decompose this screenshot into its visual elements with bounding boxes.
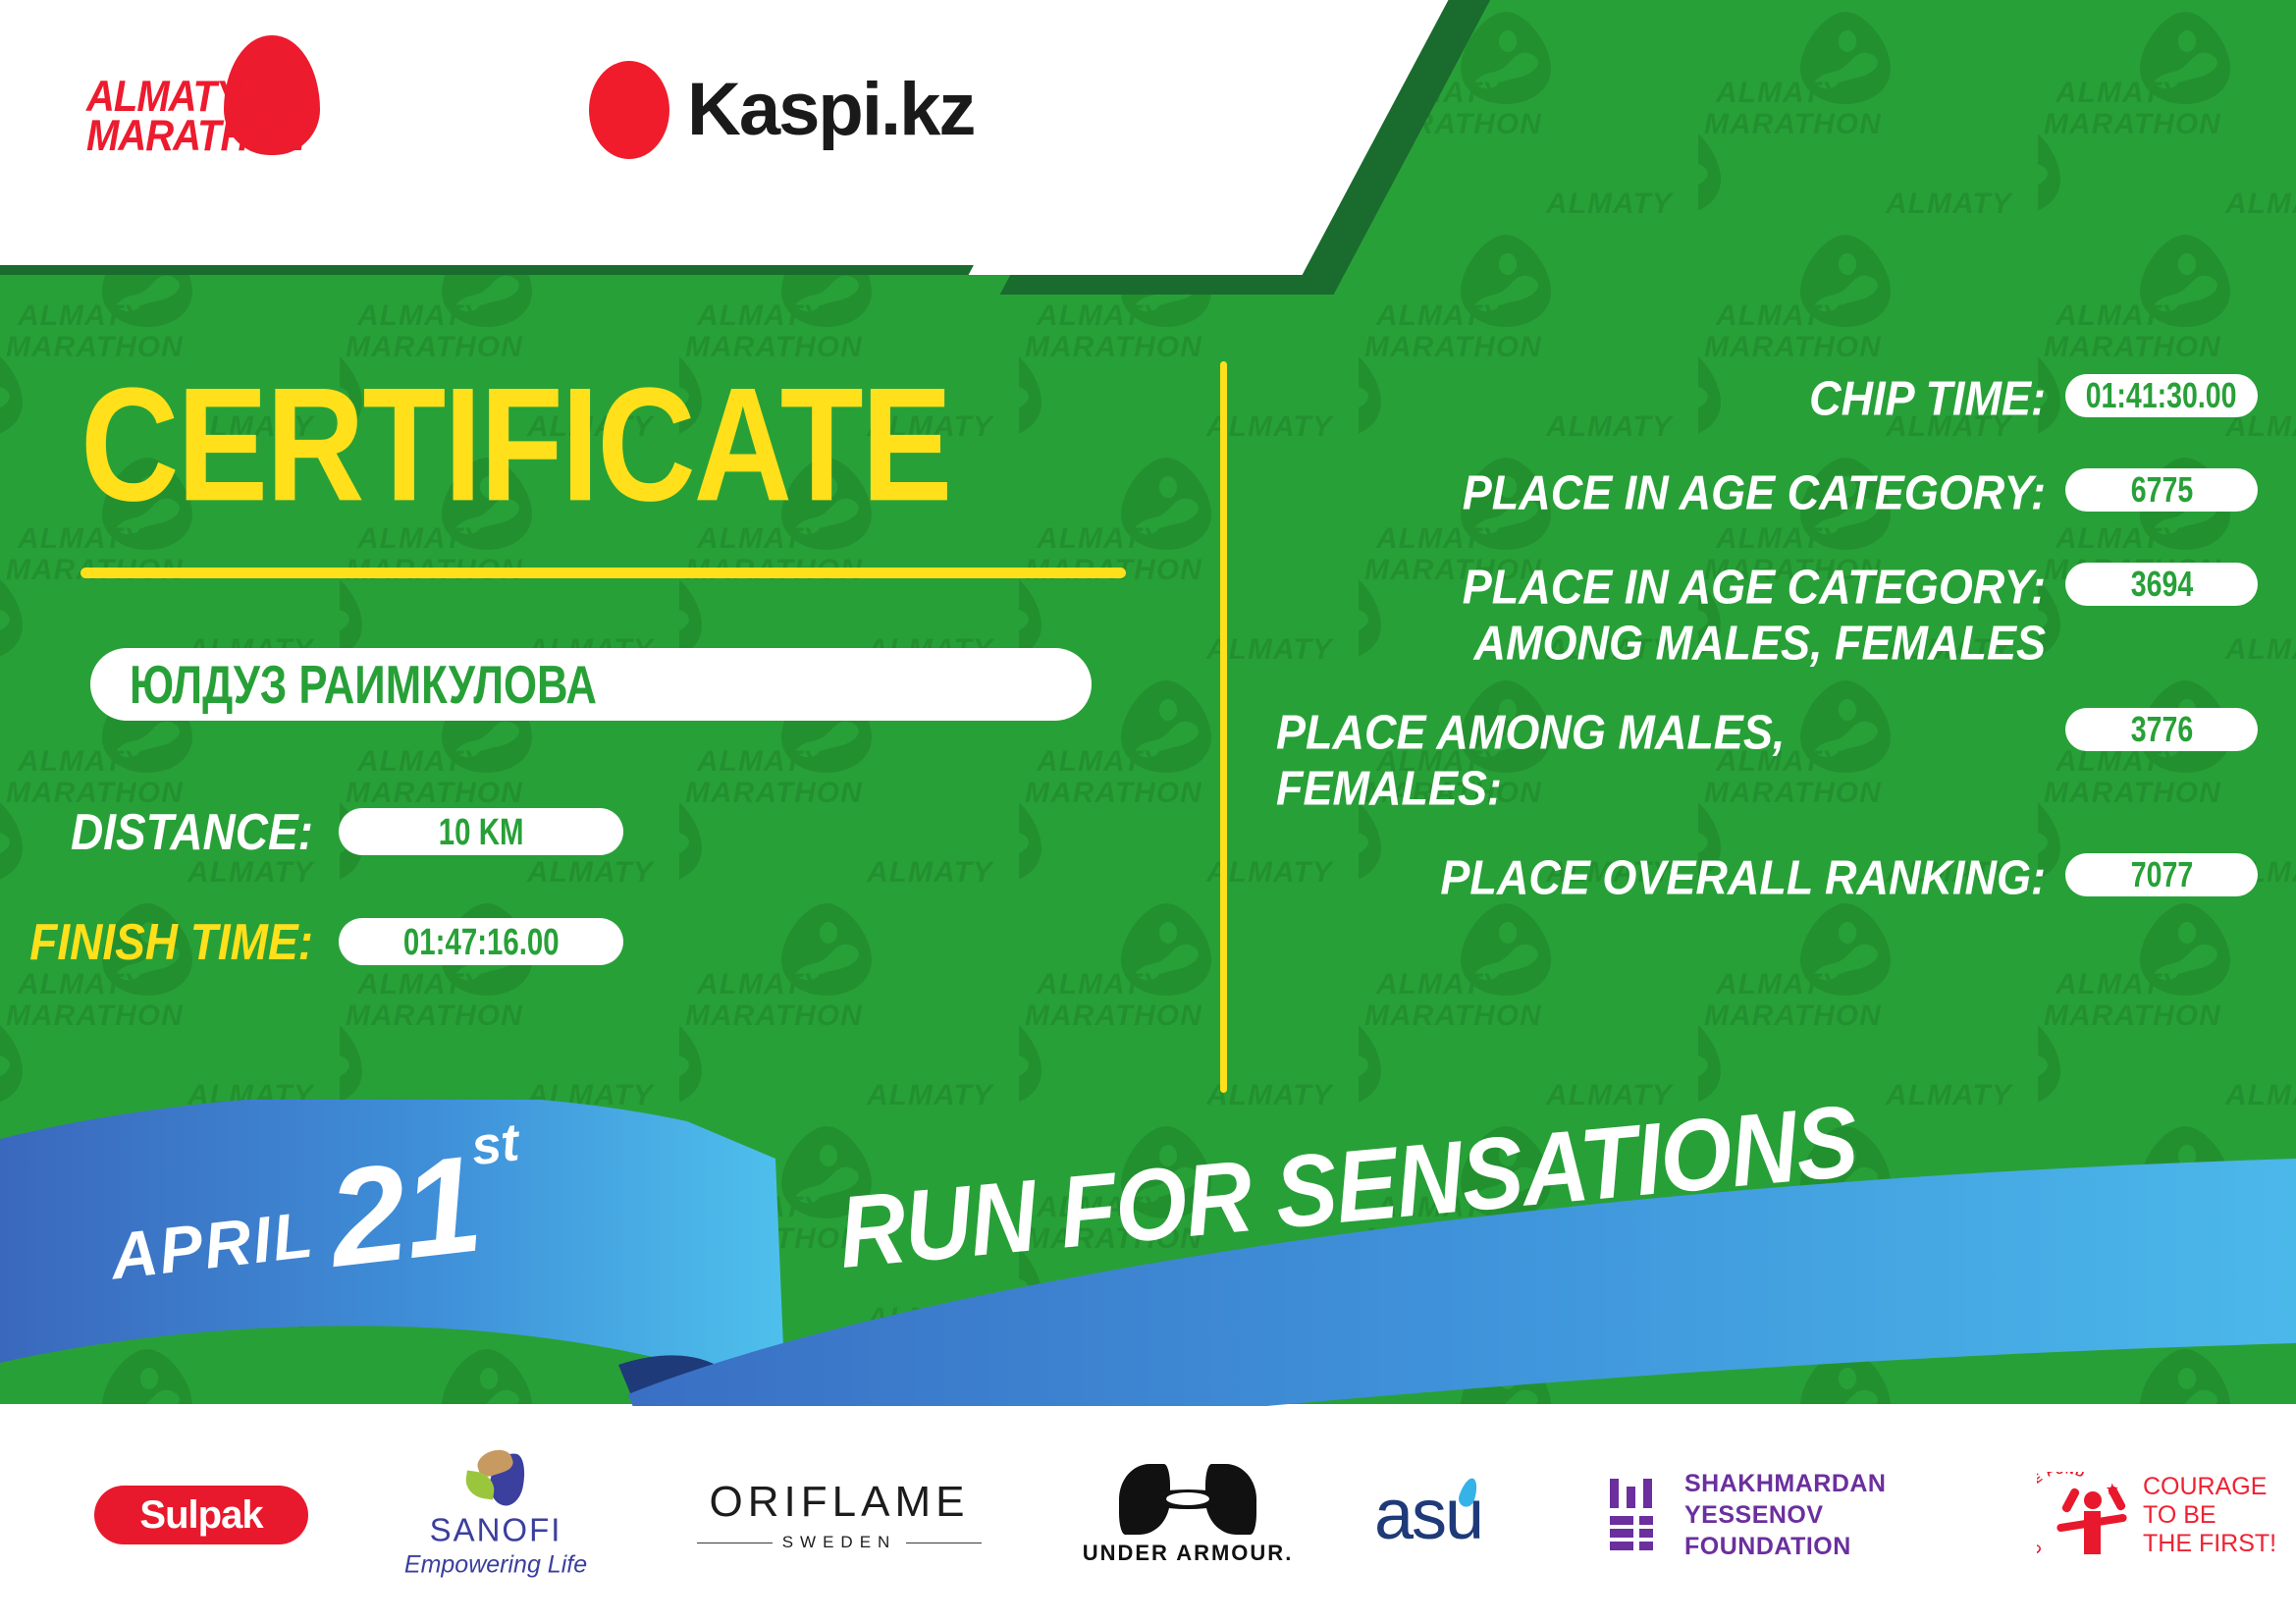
sponsor-name-sanofi: SANOFI bbox=[398, 1512, 594, 1549]
stat-value-pill-place-overall: 7077 bbox=[2065, 853, 2258, 896]
left-stats-list: DISTANCE: 10 KM FINISH TIME: 01:47:16.00 bbox=[0, 795, 1080, 1015]
stat-value-place-among-gender: 3776 bbox=[2130, 709, 2192, 750]
stat-row-chip-time: CHIP TIME: 01:41:30.00 bbox=[1276, 368, 2258, 421]
stat-label-distance: DISTANCE: bbox=[0, 802, 339, 861]
participant-name: ЮЛДУЗ РАИМКУЛОВА bbox=[130, 653, 597, 716]
sanofi-bird-icon bbox=[461, 1451, 530, 1508]
stat-row-distance: DISTANCE: 10 KM bbox=[0, 795, 1080, 868]
sponsor-logo-asu: asu bbox=[1374, 1480, 1531, 1550]
stat-row-place-age-category-gender: PLACE IN AGE CATEGORY:AMONG MALES, FEMAL… bbox=[1276, 557, 2258, 661]
sponsor-logo-yessenov-foundation: SHAKHMARDAN YESSENOV FOUNDATION bbox=[1610, 1468, 1969, 1562]
corporate-fund-figure-icon: CORPORATE FUND ★ bbox=[2037, 1472, 2131, 1558]
sponsor-name-yessenov-foundation: SHAKHMARDAN YESSENOV FOUNDATION bbox=[1684, 1468, 1969, 1562]
stat-row-place-age-category: PLACE IN AGE CATEGORY: 6775 bbox=[1276, 462, 2258, 515]
sponsor-logo-sanofi: SANOFI Empowering Life bbox=[398, 1451, 594, 1580]
almaty-marathon-logo-line2: MARATHON bbox=[86, 114, 283, 158]
stat-value-pill-distance: 10 KM bbox=[339, 808, 623, 855]
stat-value-place-age-category: 6775 bbox=[2130, 469, 2192, 511]
stat-value-pill-finish-time: 01:47:16.00 bbox=[339, 918, 623, 965]
stat-label-place-among-gender: PLACE AMONG MALES,FEMALES: bbox=[1276, 702, 2065, 817]
sponsor-name-sulpak: Sulpak bbox=[139, 1493, 262, 1538]
vertical-divider bbox=[1220, 361, 1227, 1093]
stat-label-place-age-category-gender: PLACE IN AGE CATEGORY:AMONG MALES, FEMAL… bbox=[1276, 557, 2065, 672]
certificate-page: ALMATY MARATHON Kaspi.kz CERTIFICATE ЮЛД… bbox=[0, 0, 2296, 1624]
title-block: CERTIFICATE bbox=[80, 373, 1160, 578]
sponsor-logo-corporate-fund: CORPORATE FUND ★ COURAGETO BETHE FIRST! bbox=[2037, 1472, 2276, 1558]
kaspi-people-icon bbox=[589, 61, 669, 159]
yessenov-bars-icon bbox=[1610, 1479, 1663, 1551]
header-logos: ALMATY MARATHON Kaspi.kz bbox=[0, 0, 1178, 265]
stat-row-place-among-gender: PLACE AMONG MALES,FEMALES: 3776 bbox=[1276, 702, 2258, 806]
sponsor-name-under-armour: UNDER ARMOUR. bbox=[1080, 1541, 1296, 1566]
sponsor-name-corporate-fund: COURAGETO BETHE FIRST! bbox=[2143, 1473, 2276, 1558]
kaspi-logo: Kaspi.kz bbox=[589, 61, 1021, 169]
stat-label-place-age-category: PLACE IN AGE CATEGORY: bbox=[1276, 462, 2065, 520]
participant-name-field: ЮЛДУЗ РАИМКУЛОВА bbox=[90, 648, 1092, 721]
sponsor-logo-oriflame: ORIFLAME SWEDEN bbox=[697, 1478, 982, 1552]
sponsor-sub-oriflame: SWEDEN bbox=[773, 1533, 907, 1552]
stat-value-pill-place-among-gender: 3776 bbox=[2065, 708, 2258, 751]
event-ribbon: APRIL 21 st RUN FOR SENSATIONS bbox=[0, 1100, 2296, 1424]
sponsor-name-oriflame: ORIFLAME bbox=[697, 1478, 982, 1527]
stat-value-pill-place-age-category: 6775 bbox=[2065, 468, 2258, 512]
title-underline bbox=[80, 568, 1126, 578]
sponsor-tagline-sanofi: Empowering Life bbox=[398, 1551, 594, 1580]
person-icon: ★ bbox=[2066, 1482, 2121, 1554]
right-stats-list: CHIP TIME: 01:41:30.00 PLACE IN AGE CATE… bbox=[1276, 368, 2258, 942]
oriflame-rule-right bbox=[906, 1543, 982, 1543]
sponsor-logo-under-armour: UNDER ARMOUR. bbox=[1080, 1464, 1296, 1566]
page-title: CERTIFICATE bbox=[80, 373, 1193, 516]
kaspi-logo-text: Kaspi.kz bbox=[687, 67, 974, 152]
stat-value-distance: 10 KM bbox=[439, 810, 524, 853]
stat-row-finish-time: FINISH TIME: 01:47:16.00 bbox=[0, 905, 1080, 978]
stat-label-chip-time: CHIP TIME: bbox=[1276, 368, 2065, 426]
stat-label-finish-time: FINISH TIME: bbox=[0, 912, 339, 971]
oriflame-rule-left bbox=[697, 1543, 773, 1543]
stat-value-place-overall: 7077 bbox=[2130, 854, 2192, 895]
almaty-marathon-logo: ALMATY MARATHON bbox=[86, 47, 400, 185]
ribbon-day-suffix: st bbox=[468, 1115, 521, 1173]
stat-value-chip-time: 01:41:30.00 bbox=[2086, 375, 2237, 416]
stat-value-finish-time: 01:47:16.00 bbox=[403, 920, 560, 963]
ribbon-day: 21 bbox=[323, 1145, 484, 1278]
sponsor-bar: Sulpak SANOFI Empowering Life ORIFLAME S… bbox=[0, 1406, 2296, 1624]
under-armour-icon bbox=[1119, 1464, 1256, 1535]
stat-value-pill-chip-time: 01:41:30.00 bbox=[2065, 374, 2258, 417]
stat-label-place-overall: PLACE OVERALL RANKING: bbox=[1276, 847, 2065, 905]
stat-value-place-age-category-gender: 3694 bbox=[2130, 564, 2192, 605]
sponsor-logo-sulpak: Sulpak bbox=[94, 1486, 308, 1544]
stat-row-place-overall: PLACE OVERALL RANKING: 7077 bbox=[1276, 847, 2258, 900]
stat-value-pill-place-age-category-gender: 3694 bbox=[2065, 563, 2258, 606]
sponsor-name-asu: asu bbox=[1374, 1480, 1531, 1550]
